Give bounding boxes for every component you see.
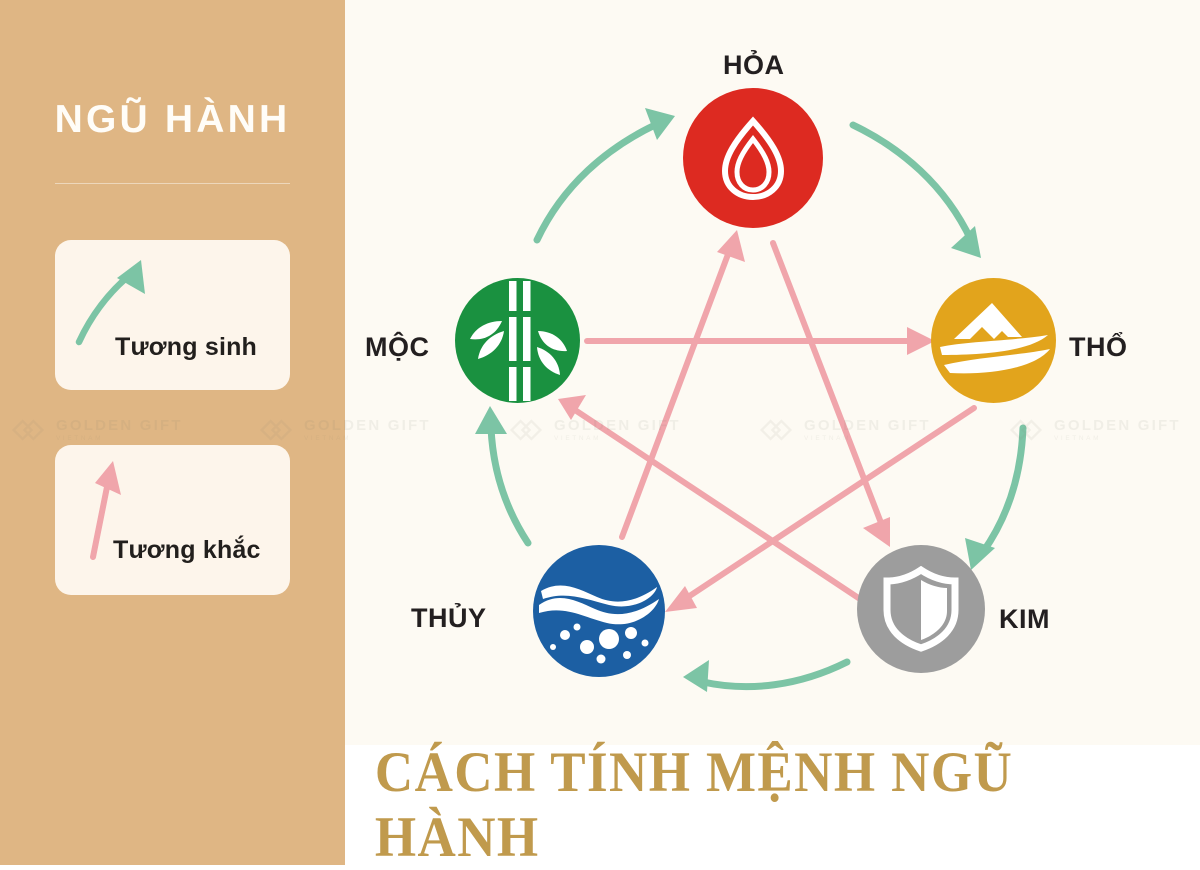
title-divider xyxy=(55,183,290,184)
element-node-hoa[interactable] xyxy=(683,88,823,228)
arrow-thuy-to-moc xyxy=(475,406,528,543)
element-label-moc: MỘC xyxy=(365,332,430,363)
element-label-tho: THỔ xyxy=(1069,332,1128,363)
arrow-tho-to-kim xyxy=(965,428,1023,570)
arrow-moc-to-tho xyxy=(587,327,935,355)
legend-item-tuong-khac[interactable]: Tương khắc xyxy=(55,445,290,595)
shield-icon xyxy=(883,566,959,652)
bamboo-icon xyxy=(458,281,578,401)
arrow-thuy-to-hoa xyxy=(622,230,745,537)
water-icon xyxy=(535,547,663,675)
legend-label-tuong-sinh: Tương sinh xyxy=(115,333,285,362)
ngu-hanh-diagram: HỎA xyxy=(345,0,1200,745)
infographic-canvas: NGŨ HÀNH Tương sinh Tương khắc xyxy=(0,0,1200,865)
element-label-hoa: HỎA xyxy=(723,50,785,81)
footer-title: CÁCH TÍNH MỆNH NGŨ HÀNH xyxy=(375,755,1170,855)
element-node-thuy[interactable] xyxy=(533,545,665,677)
arrow-moc-to-hoa xyxy=(537,108,675,240)
flame-icon xyxy=(713,115,793,201)
arrow-kim-to-thuy xyxy=(683,660,847,692)
legend-item-tuong-sinh[interactable]: Tương sinh xyxy=(55,240,290,390)
element-label-kim: KIM xyxy=(999,604,1050,635)
page-title: NGŨ HÀNH xyxy=(0,98,345,142)
arrow-hoa-to-tho xyxy=(853,125,981,258)
element-node-moc[interactable] xyxy=(455,278,580,403)
mountain-icon xyxy=(934,281,1054,401)
legend-label-tuong-khac: Tương khắc xyxy=(113,536,283,565)
sidebar-panel: NGŨ HÀNH Tương sinh Tương khắc xyxy=(0,0,345,865)
element-node-tho[interactable] xyxy=(931,278,1056,403)
element-label-thuy: THỦY xyxy=(411,603,487,634)
element-node-kim[interactable] xyxy=(857,545,985,673)
